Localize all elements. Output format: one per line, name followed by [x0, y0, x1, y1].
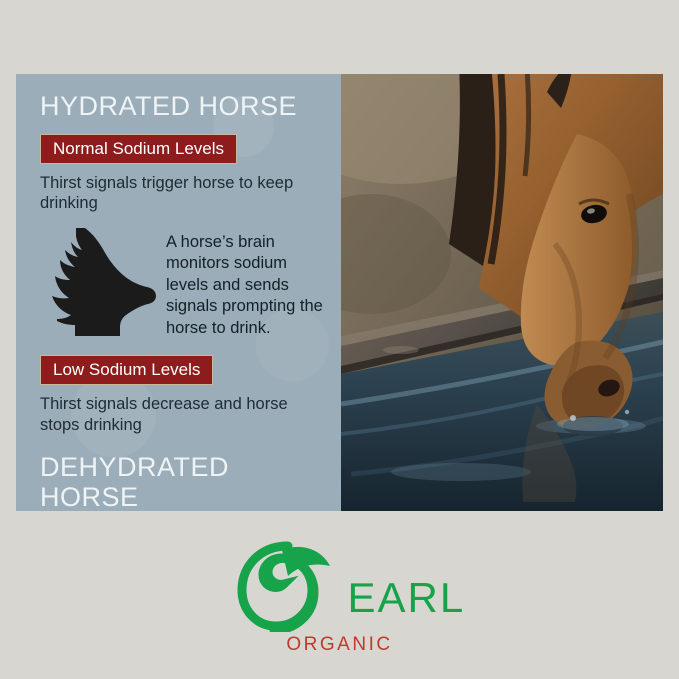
logo-brand-text: EARL — [348, 574, 466, 622]
center-illustration-row: A horse’s brain monitors sodium levels a… — [34, 228, 323, 339]
text-low-sodium: Thirst signals decrease and horse stops … — [40, 394, 323, 435]
hydration-infographic: HYDRATED HORSE Normal Sodium Levels Thir… — [16, 74, 663, 511]
text-brain-sodium: A horse’s brain monitors sodium levels a… — [166, 232, 323, 339]
logo-subtitle: ORGANIC — [286, 634, 392, 656]
title-dehydrated-horse: DEHYDRATED HORSE — [40, 453, 323, 511]
brand-logo: EARL ORGANIC — [0, 540, 679, 665]
tag-normal-sodium: Normal Sodium Levels — [40, 134, 237, 164]
tag-low-sodium: Low Sodium Levels — [40, 355, 213, 385]
text-normal-sodium: Thirst signals trigger horse to keep dri… — [40, 173, 323, 214]
logo-mark: EARL — [230, 540, 450, 632]
product-image-canvas: HYDRATED HORSE Normal Sodium Levels Thir… — [0, 0, 679, 679]
title-hydrated-horse: HYDRATED HORSE — [40, 92, 323, 122]
info-panel: HYDRATED HORSE Normal Sodium Levels Thir… — [16, 74, 341, 511]
horse-head-icon — [38, 228, 156, 336]
horse-drinking-photo — [341, 74, 663, 511]
